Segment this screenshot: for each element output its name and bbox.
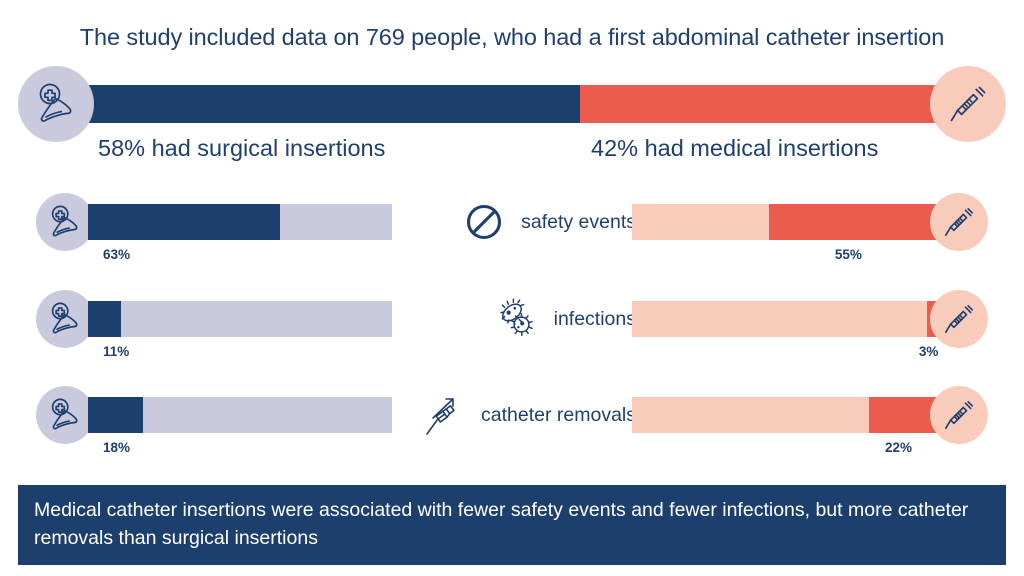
metric-label: safety events — [521, 211, 636, 234]
surgical-badge — [36, 290, 94, 348]
metric-row: 18% catheter removals 22% — [0, 378, 1024, 474]
scalpel-icon — [45, 202, 85, 242]
metric-label: infections — [554, 308, 636, 331]
syringe-icon — [939, 395, 979, 435]
infographic-canvas: The study included data on 769 people, w… — [0, 0, 1024, 576]
surgical-badge — [36, 193, 94, 251]
surgical-pct-label: 11% — [103, 344, 129, 359]
conclusion-banner: Medical catheter insertions were associa… — [18, 485, 1006, 565]
medical-bar-track — [632, 397, 936, 433]
surgical-badge — [18, 66, 94, 142]
metric-row: 63% safety events 55% — [0, 185, 1024, 281]
metric-center-group: infections — [396, 301, 636, 337]
syringe-icon — [939, 202, 979, 242]
metric-center-group: safety events — [396, 204, 636, 240]
medical-bar-fill — [769, 204, 936, 240]
medical-badge — [930, 66, 1006, 142]
medical-caption: 42% had medical insertions — [591, 135, 878, 162]
medical-bar-track — [632, 301, 936, 337]
metric-center-group: catheter removals — [396, 397, 636, 433]
scalpel-icon — [45, 299, 85, 339]
medical-bar-track — [632, 204, 936, 240]
medical-pct-label: 22% — [861, 440, 936, 455]
overall-split-bar — [88, 85, 936, 123]
medical-badge — [930, 290, 988, 348]
syringe-icon — [943, 79, 993, 129]
prohibited-icon — [461, 199, 507, 245]
surgical-bar-track — [88, 397, 392, 433]
syringe-icon — [939, 299, 979, 339]
bacteria-icon — [494, 296, 540, 342]
surgical-bar-fill — [88, 397, 143, 433]
overall-surgical-segment — [88, 85, 580, 123]
surgical-bar-fill — [88, 204, 280, 240]
catheter-removal-icon — [421, 392, 467, 438]
surgical-pct-label: 63% — [103, 247, 130, 262]
medical-bar-fill — [869, 397, 936, 433]
surgical-caption: 58% had surgical insertions — [98, 135, 385, 162]
surgical-bar-track — [88, 301, 392, 337]
overall-medical-segment — [580, 85, 936, 123]
metric-row: 11% infections 3% — [0, 282, 1024, 378]
medical-pct-label: 3% — [919, 344, 936, 359]
page-title: The study included data on 769 people, w… — [0, 24, 1024, 51]
surgical-pct-label: 18% — [103, 440, 130, 455]
medical-badge — [930, 386, 988, 444]
scalpel-icon — [45, 395, 85, 435]
metric-label: catheter removals — [481, 404, 636, 427]
surgical-badge — [36, 386, 94, 444]
scalpel-icon — [31, 79, 81, 129]
surgical-bar-fill — [88, 301, 121, 337]
surgical-bar-track — [88, 204, 392, 240]
medical-pct-label: 55% — [761, 247, 936, 262]
medical-badge — [930, 193, 988, 251]
